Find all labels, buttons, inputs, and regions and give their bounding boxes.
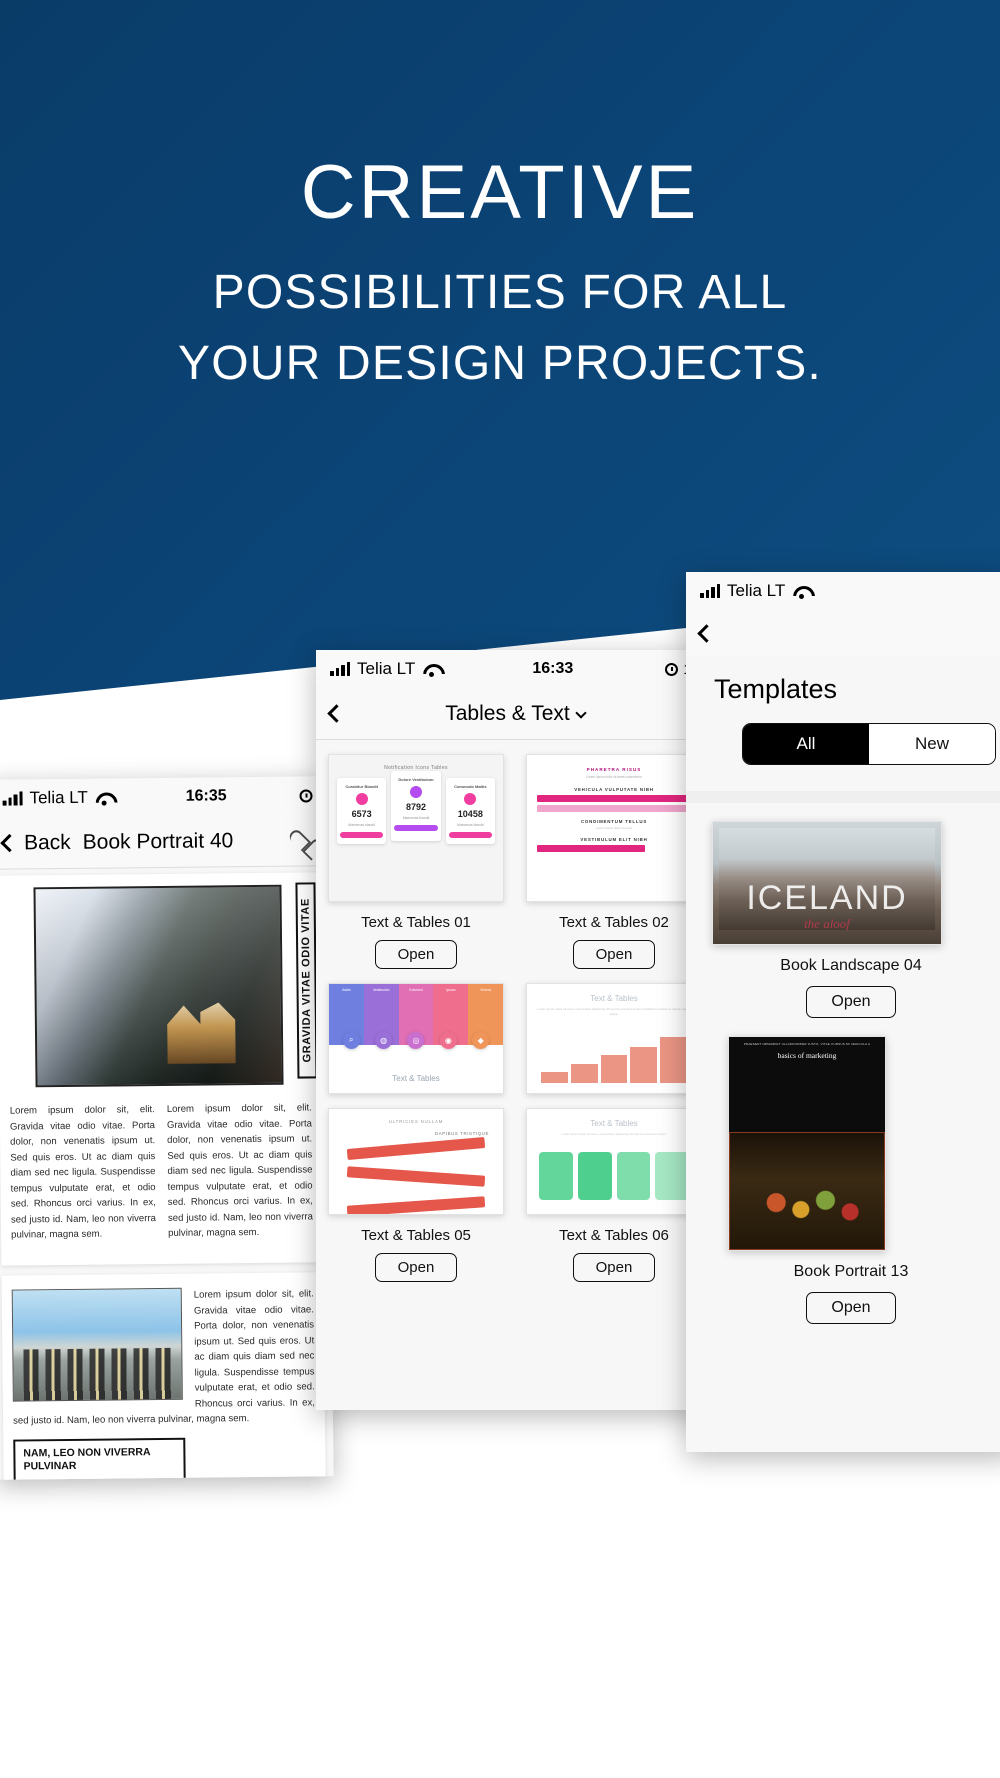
pill [655, 1152, 689, 1200]
stairs-chart [541, 1035, 687, 1083]
thumbnail-magenta-row-table[interactable]: PHARETRA RISUS Lorem ipsum dolor sit ame… [526, 754, 702, 902]
grid-item[interactable]: Addis Vestibulum Euismod Ipsum Viverra ⌕… [328, 983, 504, 1094]
chat-icon: ◍ [375, 1032, 392, 1049]
nav-bar [686, 610, 1000, 656]
pill [578, 1152, 612, 1200]
card-value: 6573 [340, 809, 383, 819]
card-title: Curabitur Blandit [340, 784, 383, 789]
ribbon-segment [347, 1196, 485, 1214]
pill-columns [539, 1152, 689, 1200]
vertical-caption: GRAVIDA VITAE ODIO VITAE [295, 882, 317, 1078]
thumbnail-notification-icons-tables[interactable]: Notification Icons Tables Curabitur Blan… [328, 754, 504, 902]
list-item[interactable]: ICELAND the aloof Book Landscape 04 Open [686, 803, 1000, 1018]
signal-bars-icon [700, 585, 720, 598]
open-button[interactable]: Open [573, 940, 656, 969]
page-title: Templates [686, 656, 1000, 719]
carrier-label: Telia LT [357, 659, 415, 679]
card-pill [394, 825, 437, 831]
grid-item-label: Text & Tables 06 [526, 1227, 702, 1244]
segment-all[interactable]: All [743, 724, 869, 764]
back-button[interactable]: Back [24, 830, 71, 854]
nav-bar: Back Book Portrait 40 [0, 814, 327, 870]
cover-title: basics of marketing [729, 1047, 885, 1065]
thumb-title: ULTRICIES NULLAM [339, 1119, 493, 1124]
open-button[interactable]: Open [375, 940, 458, 969]
body-column-1: Lorem ipsum dolor sit, elit. Gravida vit… [10, 1102, 156, 1243]
circle-icons: ⌕ ◍ ◎ ◉ ◆ [329, 1032, 503, 1049]
status-right [299, 789, 312, 802]
thumbnail-red-ribbon-timeline[interactable]: ULTRICIES NULLAM DAPIBUS TRISTIQUE [328, 1108, 504, 1215]
cover-subtitle: the aloof [713, 916, 941, 932]
grid-item[interactable]: ULTRICIES NULLAM DAPIBUS TRISTIQUE Text … [328, 1108, 504, 1215]
thumb-caption: Text & Tables [537, 994, 691, 1003]
book-page-1: GRAVIDA VITAE ODIO VITAE Lorem ipsum dol… [0, 872, 323, 1265]
list-item-label: Book Portrait 13 [686, 1263, 1000, 1281]
body-column-2: Lorem ipsum dolor sit, elit. Gravida vit… [167, 1100, 313, 1241]
card-sub: Maecenas blandit [394, 816, 437, 820]
wifi-icon [792, 585, 810, 598]
chevron-left-icon[interactable] [0, 834, 18, 852]
open-button[interactable]: Open [573, 1253, 656, 1282]
table-bar [537, 805, 691, 812]
thumb-section-1: VEHICULA VULPUTATE NIBH [537, 787, 691, 792]
wifi-icon [95, 791, 113, 804]
thumbnail-green-pill-columns[interactable]: Text & Tables Lorem ipsum dolor sit amet… [526, 1108, 702, 1215]
signal-bars-icon [2, 792, 22, 805]
card-sub: Maecenas blandit [449, 823, 492, 827]
clock-label: 16:33 [440, 660, 665, 678]
penguin-photo [12, 1288, 183, 1402]
carrier-label: Telia LT [727, 581, 785, 601]
phone-templates-list: Telia LT Templates All New ICELAND the a… [686, 572, 1000, 1452]
signal-bars-icon [330, 663, 350, 676]
thumb-right-label: DAPIBUS TRISTIQUE [435, 1131, 489, 1136]
nav-bar: Tables & Text [316, 688, 714, 740]
card-value: 8792 [394, 802, 437, 812]
thumb-sub: Lorem ipsum dolor sit amet consectetur [537, 775, 691, 779]
page-title[interactable]: Tables & Text [316, 702, 714, 726]
section-divider [686, 791, 1000, 803]
thumb-cards: Curabitur Blandit 6573 Maecenas blandit … [337, 778, 495, 844]
marketing-book-cover[interactable]: PRAESENT IMPERDIET ULLAMCORPER JUSTO, VI… [728, 1036, 886, 1251]
list-item-label: Book Landscape 04 [686, 957, 1000, 975]
status-bar: Telia LT 16:33 10 [316, 650, 714, 688]
list-item[interactable]: PRAESENT IMPERDIET ULLAMCORPER JUSTO, VI… [686, 1018, 1000, 1324]
clock-label: 16:35 [113, 787, 300, 807]
card-icon [356, 793, 368, 805]
thumb-section-2: CONDIMENTUM TELLUS [537, 819, 691, 824]
status-left: Telia LT [700, 581, 810, 601]
status-bar: Telia LT [686, 572, 1000, 610]
cover-kicker: PRAESENT IMPERDIET ULLAMCORPER JUSTO, VI… [729, 1037, 885, 1047]
thumb-sub: Lorem ipsum dolor sit amet, consectetur … [537, 1007, 691, 1016]
phone-book-reader: Telia LT 16:35 Back Book Portrait 40 GRA… [0, 776, 334, 1480]
grid-item[interactable]: PHARETRA RISUS Lorem ipsum dolor sit ame… [526, 754, 702, 969]
thumbnail-colored-columns-circles[interactable]: Addis Vestibulum Euismod Ipsum Viverra ⌕… [328, 983, 504, 1094]
table-bar [537, 795, 691, 802]
pill [539, 1152, 573, 1200]
ribbon-segment [347, 1137, 485, 1160]
grid-item-label: Text & Tables 05 [328, 1227, 504, 1244]
thumb-section-3: VESTIBULUM ELIT NIBH [537, 837, 691, 842]
open-button[interactable]: Open [806, 1292, 895, 1324]
alarm-clock-icon [299, 789, 312, 802]
search-icon: ⌕ [343, 1032, 360, 1049]
photo-caption: NAM, LEO NON VIVERRA PULVINAR [13, 1438, 185, 1480]
rocket-icon: ◆ [472, 1032, 489, 1049]
thumb-sub: Lorem ipsum dolor sit amet, consectetur … [537, 1132, 691, 1137]
chevron-down-icon[interactable] [575, 707, 586, 718]
carrier-label: Telia LT [29, 788, 87, 809]
card-title: Commodo Mattis [449, 784, 492, 789]
thumbnail-salmon-stairs-chart[interactable]: Text & Tables Lorem ipsum dolor sit amet… [526, 983, 702, 1094]
open-button[interactable]: Open [806, 986, 895, 1018]
template-grid: Notification Icons Tables Curabitur Blan… [316, 740, 714, 1215]
pill [617, 1152, 651, 1200]
body-columns: Lorem ipsum dolor sit, elit. Gravida vit… [10, 1100, 313, 1243]
chevron-left-icon[interactable] [327, 704, 345, 722]
card-icon [410, 786, 422, 798]
target-icon: ◉ [440, 1032, 457, 1049]
open-button[interactable]: Open [375, 1253, 458, 1282]
grid-item-label: Text & Tables 01 [328, 914, 504, 931]
thumb-caption: Text & Tables [537, 1119, 691, 1128]
cover-photo [729, 1132, 885, 1250]
card-pill [340, 832, 383, 838]
page-title-label: Tables & Text [445, 702, 570, 725]
segment-new[interactable]: New [869, 724, 995, 764]
phone-tables-text-grid: Telia LT 16:33 10 Tables & Text Notifica… [316, 650, 714, 1410]
card-sub: Maecenas blandit [340, 823, 383, 827]
iceland-landscape-cover[interactable]: ICELAND the aloof [712, 821, 942, 945]
grid-item[interactable]: Text & Tables Lorem ipsum dolor sit amet… [526, 983, 702, 1094]
ribbon-segment [347, 1166, 485, 1187]
thumb-title: PHARETRA RISUS [537, 767, 691, 772]
card-value: 10458 [449, 809, 492, 819]
grid-item[interactable]: Text & Tables Lorem ipsum dolor sit amet… [526, 1108, 702, 1215]
thumb-card: Commodo Mattis 10458 Maecenas blandit [446, 778, 495, 844]
chevron-left-icon[interactable] [697, 624, 715, 642]
thumb-caption: Text & Tables [329, 1074, 503, 1083]
grid-item-label: Text & Tables 02 [526, 914, 702, 931]
cover-title: ICELAND [723, 879, 931, 918]
card-pill [449, 832, 492, 838]
wifi-icon [422, 663, 440, 676]
card-title: Dolore Vestibulum [394, 777, 437, 782]
status-left: Telia LT [330, 659, 440, 679]
segmented-control[interactable]: All New [742, 723, 996, 765]
card-icon [464, 793, 476, 805]
table-bar [537, 845, 645, 852]
bulb-icon: ◎ [407, 1032, 424, 1049]
mountain-photo [33, 885, 283, 1088]
status-bar: Telia LT 16:35 [0, 776, 327, 818]
alarm-clock-icon [665, 663, 678, 676]
status-left: Telia LT [2, 787, 112, 808]
thumb-card: Curabitur Blandit 6573 Maecenas blandit [337, 778, 386, 844]
book-page-2: Lorem ipsum dolor sit, elit. Gravida vit… [2, 1272, 327, 1479]
thumb-card: Dolore Vestibulum 8792 Maecenas blandit [391, 771, 440, 841]
table-line: Lorem ipsum dolor sit amet [537, 826, 691, 830]
grid-item[interactable]: Notification Icons Tables Curabitur Blan… [328, 754, 504, 969]
heart-icon[interactable] [291, 830, 313, 850]
